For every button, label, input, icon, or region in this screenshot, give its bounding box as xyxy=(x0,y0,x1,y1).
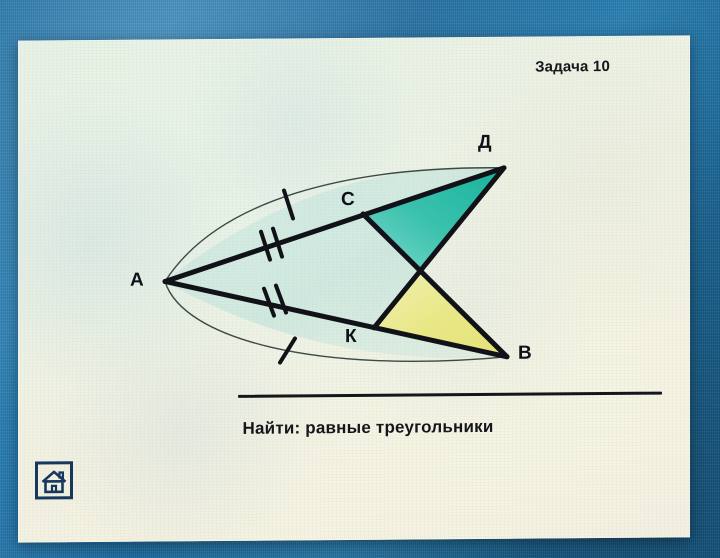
vertex-label-c: С xyxy=(341,190,355,209)
vertex-label-b: В xyxy=(518,344,532,363)
slide-sheet: Задача 10 xyxy=(18,35,690,542)
geometry-figure xyxy=(18,35,690,542)
tick-arc-lower xyxy=(280,338,295,362)
vertex-label-k: К xyxy=(345,327,357,346)
vertex-label-a: А xyxy=(130,271,144,290)
slide-content: Задача 10 xyxy=(18,35,690,542)
home-button[interactable] xyxy=(34,460,74,500)
vertex-label-d: Д xyxy=(478,133,492,152)
home-icon[interactable] xyxy=(34,460,74,500)
